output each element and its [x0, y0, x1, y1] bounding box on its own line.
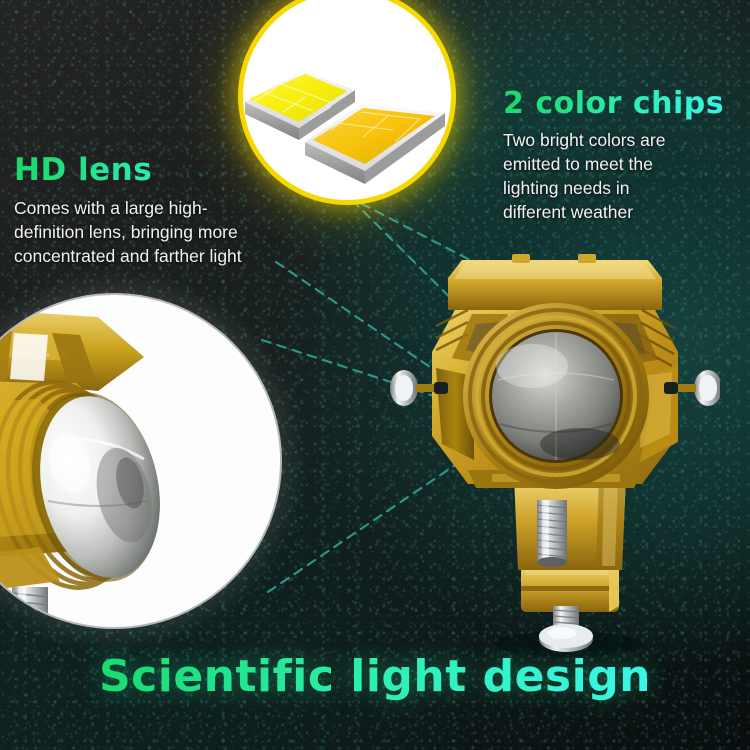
color-chips-body: Two bright colors are emitted to meet th… — [503, 128, 743, 225]
product-image-led-spotlight — [390, 248, 720, 660]
product-lens-assembly — [463, 303, 649, 489]
hd-lens-body: Comes with a large high- definition lens… — [14, 196, 282, 268]
hd-lens-body-line-3: concentrated and farther light — [14, 244, 282, 268]
product-adjustment-screw — [537, 500, 567, 567]
infographic-canvas: HD lens Comes with a large high- definit… — [0, 0, 750, 750]
callout-hd-lens: HD lens Comes with a large high- definit… — [14, 152, 282, 268]
hd-lens-body-line-1: Comes with a large high- — [14, 196, 282, 220]
color-chips-body-line-3: lighting needs in — [503, 176, 743, 200]
color-chips-body-line-1: Two bright colors are — [503, 128, 743, 152]
hd-lens-heading: HD lens — [14, 152, 282, 188]
color-chips-body-line-4: different weather — [503, 200, 743, 224]
bottom-title: Scientific light design — [0, 651, 750, 702]
hd-lens-body-line-2: definition lens, bringing more — [14, 220, 282, 244]
product-mounting-bolt-lower — [539, 606, 593, 652]
callout-color-chips: 2 color chips Two bright colors are emit… — [503, 86, 743, 225]
product-neck — [514, 476, 626, 570]
color-chips-heading: 2 color chips — [503, 86, 743, 121]
color-chips-body-line-2: emitted to meet the — [503, 152, 743, 176]
